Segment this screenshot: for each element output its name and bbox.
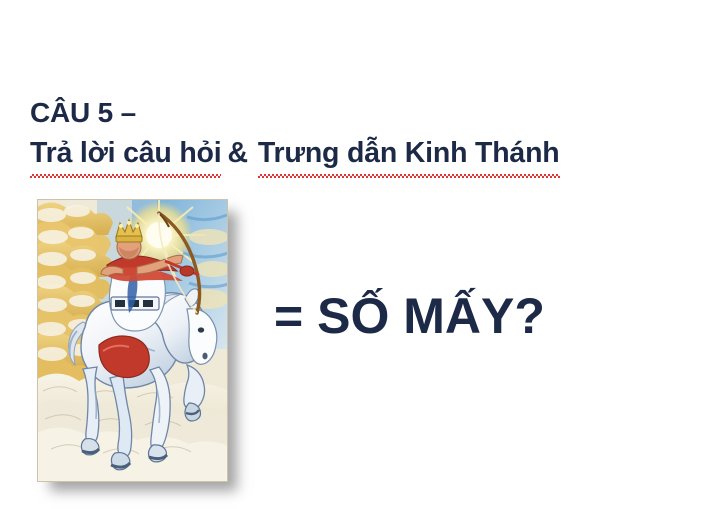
illustration-image <box>37 199 228 482</box>
title-line-2-part2: Trưng dẫn Kinh Thánh <box>258 133 560 176</box>
slide-title: CÂU 5 – Trả lời câu hỏi&Trưng dẫn Kinh T… <box>30 92 670 176</box>
title-line-2-ampersand: & <box>221 133 253 175</box>
title-line-1-text: CÂU 5 – <box>30 92 136 133</box>
slide-canvas: CÂU 5 – Trả lời câu hỏi&Trưng dẫn Kinh T… <box>0 0 708 509</box>
title-line-2-part1: Trả lời câu hỏi <box>30 133 221 176</box>
title-line-2: Trả lời câu hỏi&Trưng dẫn Kinh Thánh <box>30 133 670 176</box>
title-line-1: CÂU 5 – <box>30 92 670 133</box>
question-text: = SỐ MẤY? <box>274 289 545 344</box>
white-horse-rider-icon <box>37 199 228 482</box>
illustration-figure <box>37 199 228 482</box>
